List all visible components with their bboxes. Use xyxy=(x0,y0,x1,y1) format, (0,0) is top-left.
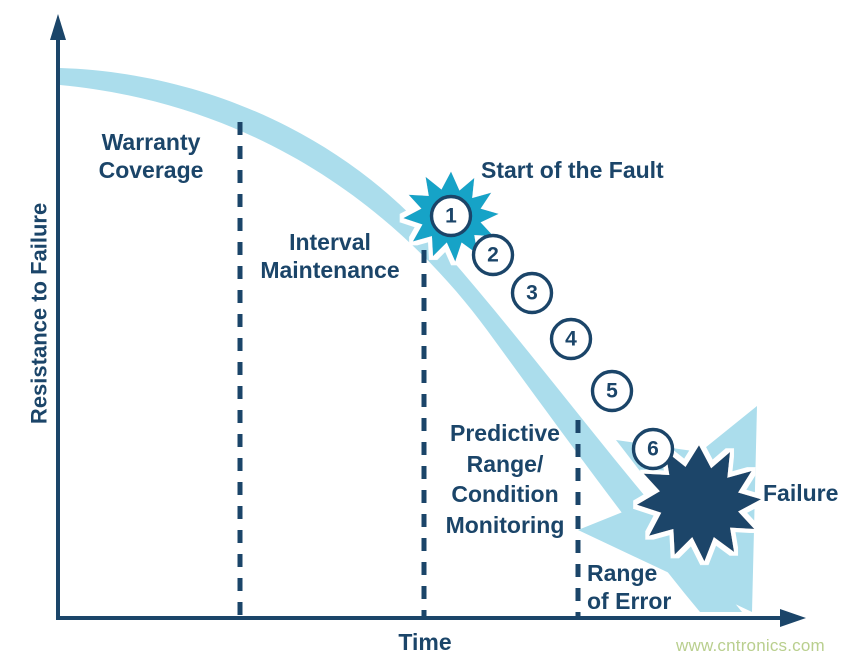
stage-marker-4[interactable]: 4 xyxy=(552,320,591,359)
stage-marker-2-label: 2 xyxy=(487,244,499,267)
stage-marker-5-label: 5 xyxy=(606,380,618,403)
stage-marker-3-label: 3 xyxy=(526,282,538,305)
zone-label-interval-maintenance: Interval Maintenance xyxy=(251,228,409,284)
zone-label-range-of-error: Range of Error xyxy=(587,560,717,615)
stage-marker-1-label: 1 xyxy=(445,205,457,228)
zone-label-warranty-coverage: Warranty Coverage xyxy=(93,128,209,184)
pf-curve-diagram: 1 2 3 4 5 6 Warranty Cov xyxy=(0,0,854,660)
callout-start-of-the-fault: Start of the Fault xyxy=(481,156,711,184)
stage-marker-3[interactable]: 3 xyxy=(513,274,552,313)
stage-marker-1[interactable]: 1 xyxy=(432,197,471,236)
stage-marker-6[interactable]: 6 xyxy=(634,430,673,469)
stage-marker-4-label: 4 xyxy=(565,328,577,351)
watermark: www.cntronics.com xyxy=(676,636,825,656)
y-axis-label: Resistance to Failure xyxy=(27,193,54,433)
callout-failure: Failure xyxy=(763,479,854,507)
stage-marker-6-label: 6 xyxy=(647,438,659,461)
x-axis-label: Time xyxy=(368,628,482,656)
stage-marker-2[interactable]: 2 xyxy=(474,236,513,275)
zone-label-predictive-range-condition-monitoring: Predictive Range/ Condition Monitoring xyxy=(432,418,578,540)
stage-marker-5[interactable]: 5 xyxy=(593,372,632,411)
diagram-canvas: 1 2 3 4 5 6 xyxy=(0,0,854,660)
